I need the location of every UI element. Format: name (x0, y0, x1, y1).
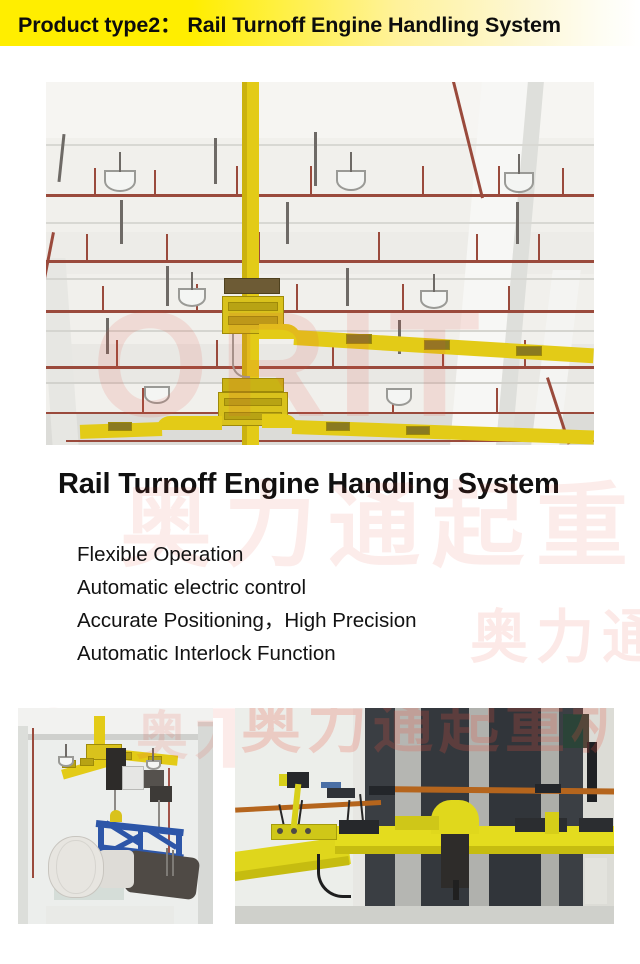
engine-lifting-photo: 奥力通起重机 (18, 708, 213, 924)
engine-lifting-scene (18, 708, 213, 924)
rail-closeup-scene (235, 708, 614, 924)
feature-item: Accurate Positioning，High Precision (77, 604, 597, 637)
rail-turnoff-overview-photo: ORIT (46, 82, 594, 445)
feature-list: Flexible Operation Automatic electric co… (77, 538, 597, 670)
product-type-banner: Product type2： Rail Turnoff Engine Handl… (0, 0, 640, 46)
feature-item: Automatic electric control (77, 571, 597, 604)
rail-closeup-photo: 奥力通起重机 (235, 708, 614, 924)
hero-scene (46, 82, 594, 445)
feature-item: Flexible Operation (77, 538, 597, 571)
page-title: Rail Turnoff Engine Handling System (58, 468, 560, 501)
banner-title: Product type2： Rail Turnoff Engine Handl… (18, 8, 561, 39)
feature-item: Automatic Interlock Function (77, 637, 597, 670)
product-slide: Product type2： Rail Turnoff Engine Handl… (0, 0, 640, 964)
